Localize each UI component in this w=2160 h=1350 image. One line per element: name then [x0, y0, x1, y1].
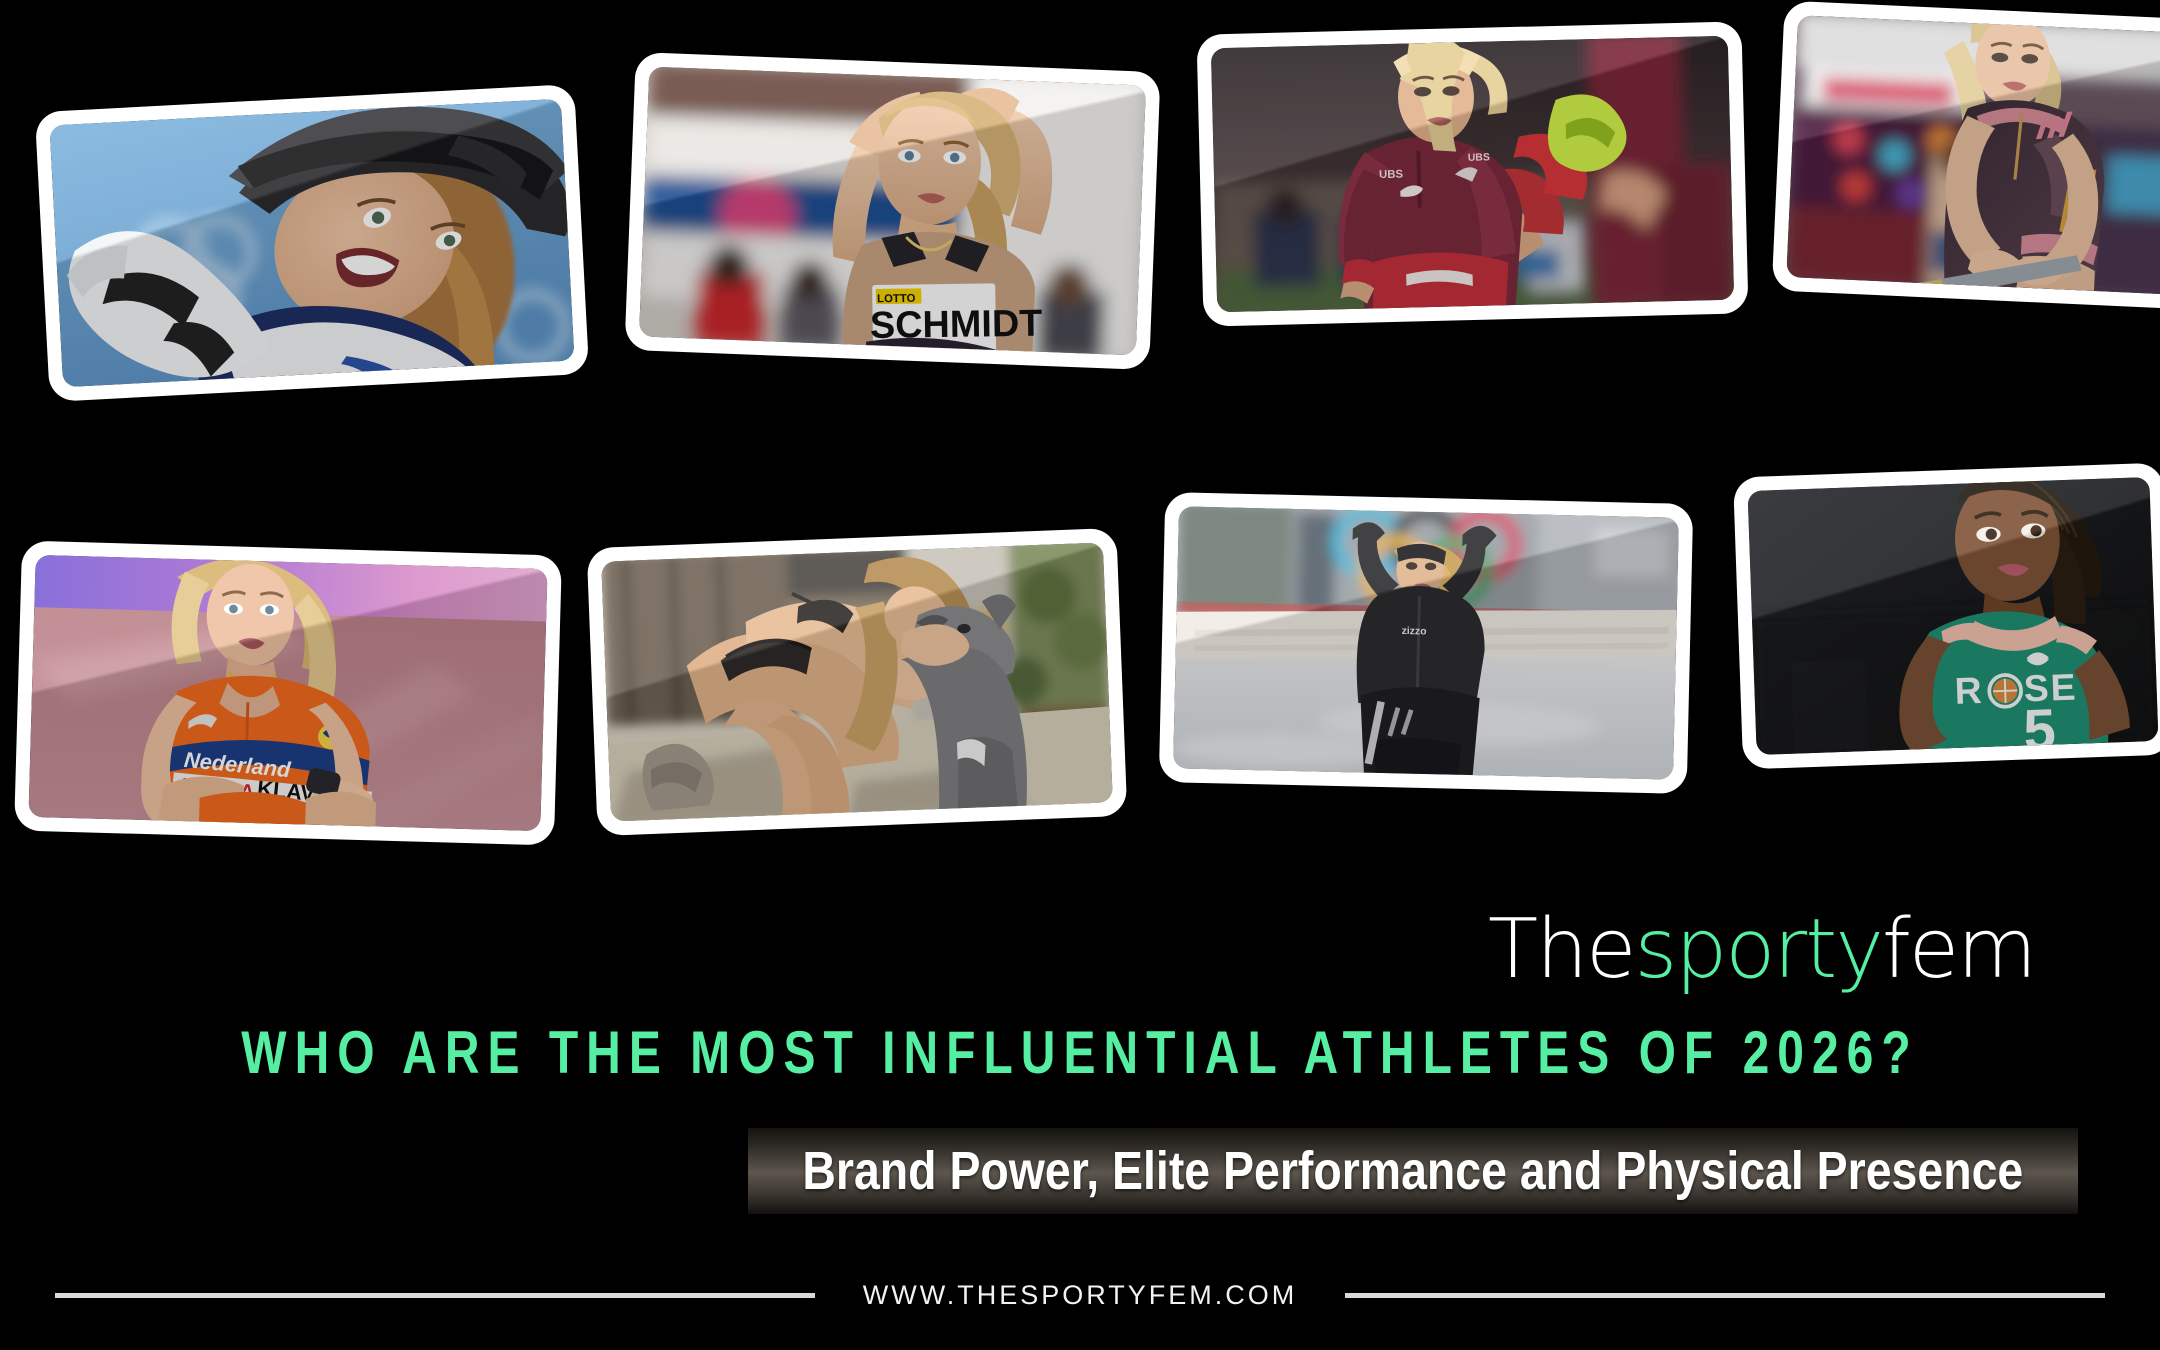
photo-speed-skater: zizzo — [1173, 506, 1679, 779]
footer-divider-left — [55, 1293, 815, 1298]
svg-text:LOTTO: LOTTO — [877, 293, 916, 306]
svg-text:5: 5 — [2022, 698, 2056, 755]
footer-website-url[interactable]: WWW.THESPORTYFEM.COM — [863, 1280, 1297, 1311]
poster-canvas: LOTTO SCHMIDT — [0, 0, 2160, 1350]
photo-basketball-reese: R SE 5 — [1748, 477, 2159, 755]
photo-card-footballer-lehmann[interactable]: UBS UBS — [1197, 21, 1749, 326]
logo-part-fem: fem — [1882, 902, 2035, 997]
subtitle-text: Brand Power, Elite Performance and Physi… — [803, 1140, 2024, 1202]
footer: WWW.THESPORTYFEM.COM — [0, 1272, 2160, 1318]
photo-sprinter-klaver: Nederland HONDA KLAVER TOKYO — [28, 555, 547, 831]
photo-athlete-with-dog — [601, 542, 1113, 821]
photo-card-speed-skater[interactable]: zizzo — [1159, 492, 1693, 794]
photo-sprinter-schmidt: LOTTO SCHMIDT — [639, 67, 1146, 356]
photo-card-sprinter-klaver[interactable]: Nederland HONDA KLAVER TOKYO — [14, 541, 562, 846]
svg-text:R: R — [1954, 669, 1984, 712]
photo-card-athlete-with-dog[interactable] — [587, 528, 1128, 836]
photo-card-pole-vaulter[interactable] — [1772, 1, 2160, 310]
svg-text:zizzo: zizzo — [1402, 626, 1427, 638]
logo-part-the: The — [1488, 902, 1635, 997]
photo-pole-vaulter — [1786, 15, 2160, 295]
photo-card-basketball-reese[interactable]: R SE 5 — [1733, 463, 2160, 770]
photo-card-sprinter-schmidt[interactable]: LOTTO SCHMIDT — [624, 52, 1160, 370]
subtitle-banner: Brand Power, Elite Performance and Physi… — [748, 1128, 2078, 1214]
footer-divider-right — [1345, 1293, 2105, 1298]
brand-logo: Thesportyfem — [1488, 902, 2035, 997]
photo-footballer-lehmann: UBS UBS — [1211, 36, 1734, 313]
photo-freestyle-skier — [49, 99, 574, 387]
logo-part-sporty: sporty — [1635, 902, 1882, 997]
page-title: WHO ARE THE MOST INFLUENTIAL ATHLETES OF… — [216, 1018, 1944, 1087]
photo-card-freestyle-skier[interactable] — [35, 84, 589, 402]
svg-text:UBS: UBS — [1468, 152, 1490, 164]
